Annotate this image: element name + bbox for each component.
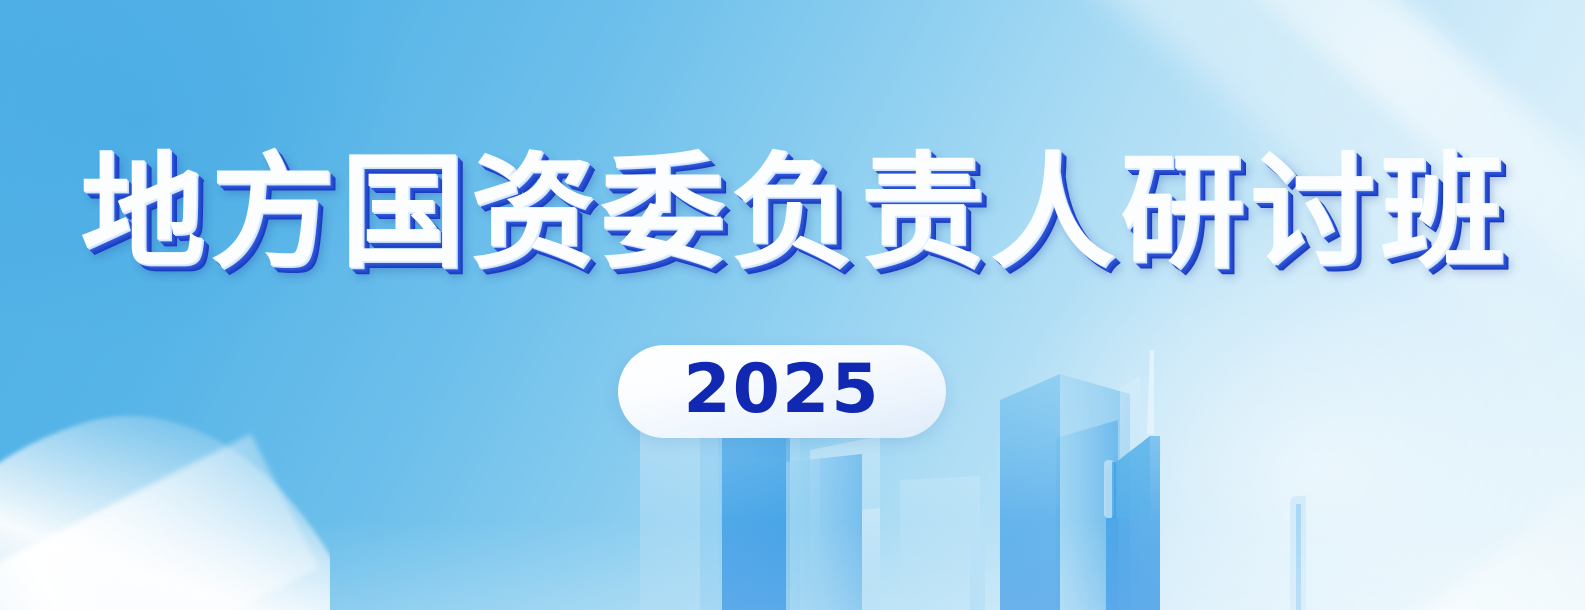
title-char: 资 (468, 148, 598, 278)
title-char: 方 (208, 148, 338, 278)
year-badge: 2025 (618, 345, 946, 438)
swoosh-blue-layer (0, 517, 314, 610)
corner-light-swoosh-icon (0, 380, 330, 610)
glow-bottom-right (865, 90, 1585, 610)
title-char: 委 (598, 148, 728, 278)
title-char: 地 (78, 148, 208, 278)
swoosh-white-arc (0, 380, 330, 610)
title-char: 负 (728, 148, 858, 278)
title-char: 讨 (1248, 148, 1378, 278)
page-title: 地 方 国 资 委 负 责 人 研 讨 班 (0, 148, 1585, 278)
glow-top-left (0, 0, 520, 440)
title-char: 责 (858, 148, 988, 278)
diagonal-light-beam-bottom-icon (1051, 423, 1585, 610)
title-char: 班 (1378, 148, 1508, 278)
event-banner: 地 方 国 资 委 负 责 人 研 讨 班 2025 (0, 0, 1585, 610)
swoosh-white-streak (0, 434, 319, 610)
title-char: 研 (1118, 148, 1248, 278)
diagonal-light-beam-icon (769, 0, 1585, 356)
diagonal-light-beam-secondary-icon (1026, 0, 1585, 384)
year-badge-label: 2025 (683, 356, 880, 428)
title-char: 国 (338, 148, 468, 278)
title-char: 人 (988, 148, 1118, 278)
